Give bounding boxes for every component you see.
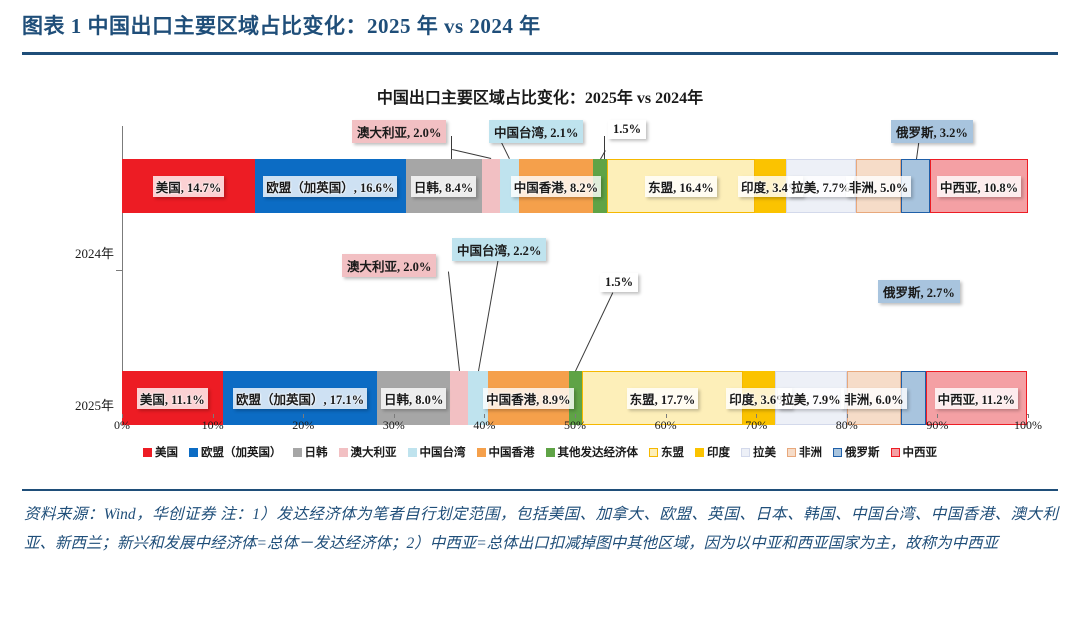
x-axis-tick-label: 60%	[655, 418, 677, 433]
y-axis-tick	[116, 270, 122, 271]
page-title: 图表 1 中国出口主要区域占比变化：2025 年 vs 2024 年	[22, 8, 1058, 44]
x-axis-tick-labels: 0%10%20%30%40%50%60%70%80%90%100%	[0, 418, 1080, 438]
legend-swatch	[189, 448, 198, 457]
x-axis-tick-label: 50%	[564, 418, 586, 433]
figure-header: 图表 1 中国出口主要区域占比变化：2025 年 vs 2024 年	[22, 8, 1058, 52]
bar-segment-label: 美国, 14.7%	[153, 176, 225, 197]
callout-leader-line	[604, 136, 605, 159]
legend-swatch	[833, 448, 842, 457]
footnote-divider	[22, 489, 1058, 491]
bar-segment-label: 欧盟（加英国）, 16.6%	[263, 176, 397, 197]
bar-segment: 拉美, 7.9%	[775, 371, 847, 425]
bar-segment: 美国, 11.1%	[122, 371, 223, 425]
bar-segment: 日韩, 8.0%	[377, 371, 449, 425]
legend-item[interactable]: 印度	[695, 444, 730, 460]
legend-swatch	[741, 448, 750, 457]
segment-callout: 俄罗斯, 2.7%	[878, 280, 960, 303]
legend-item[interactable]: 俄罗斯	[833, 444, 880, 460]
legend-swatch	[546, 448, 555, 457]
x-axis-tick-mark	[666, 414, 667, 418]
x-axis-tick-label: 100%	[1014, 418, 1042, 433]
x-axis-tick-mark	[484, 414, 485, 418]
x-axis-tick-mark	[213, 414, 214, 418]
legend-item[interactable]: 美国	[143, 444, 178, 460]
bar-segment: 中西亚, 11.2%	[926, 371, 1027, 425]
legend-item[interactable]: 日韩	[293, 444, 328, 460]
bar-segment-label: 日韩, 8.0%	[381, 388, 446, 409]
footnote-text: 资料来源：Wind，华创证券 注：1）发达经济体为笔者自行划定范围，包括美国、加…	[24, 500, 1058, 558]
bar-segment-label: 日韩, 8.4%	[411, 176, 476, 197]
callout-leader-line	[575, 292, 614, 372]
legend-item[interactable]: 中国台湾	[408, 444, 466, 460]
bar-segment-label: 东盟, 16.4%	[645, 176, 717, 197]
bar-segment-label: 东盟, 17.7%	[627, 388, 699, 409]
x-axis-tick-label: 30%	[383, 418, 405, 433]
segment-callout: 澳大利亚, 2.0%	[342, 254, 436, 277]
legend-label: 印度	[707, 444, 730, 460]
legend-label: 拉美	[753, 444, 776, 460]
legend-swatch	[787, 448, 796, 457]
bar-segment	[482, 159, 500, 213]
segment-callout: 1.5%	[600, 273, 638, 292]
category-label-2024: 2024年	[44, 243, 114, 262]
bar-segment-label: 拉美, 7.9%	[778, 388, 843, 409]
x-axis-tick-label: 70%	[745, 418, 767, 433]
bar-segment: 印度, 3.6%	[743, 371, 776, 425]
legend-item[interactable]: 其他发达经济体	[546, 444, 639, 460]
legend-item[interactable]: 中国香港	[477, 444, 535, 460]
legend-item[interactable]: 拉美	[741, 444, 776, 460]
x-axis-tick-mark	[847, 414, 848, 418]
legend-swatch	[891, 448, 900, 457]
bar-segment-label: 中国香港, 8.9%	[483, 388, 573, 409]
x-axis-tick-label: 20%	[292, 418, 314, 433]
legend-label: 非洲	[799, 444, 822, 460]
bar-segment: 非洲, 6.0%	[847, 371, 901, 425]
bar-segment: 中国香港, 8.9%	[488, 371, 569, 425]
x-axis-tick-label: 90%	[926, 418, 948, 433]
category-label-2025: 2025年	[44, 395, 114, 414]
callout-leader-line	[448, 272, 460, 371]
segment-callout: 中国台湾, 2.1%	[489, 120, 583, 143]
x-axis-tick-mark	[303, 414, 304, 418]
legend-label: 日韩	[305, 444, 328, 460]
legend-label: 中西亚	[903, 444, 938, 460]
bar-segment-label: 欧盟（加英国）, 17.1%	[233, 388, 367, 409]
bar-segment-label: 中西亚, 10.8%	[937, 176, 1021, 197]
x-axis-tick-mark	[575, 414, 576, 418]
legend-swatch	[293, 448, 302, 457]
legend-label: 澳大利亚	[351, 444, 397, 460]
bar-segment: 中西亚, 10.8%	[930, 159, 1028, 213]
legend-label: 中国台湾	[420, 444, 466, 460]
bar-segment: 中国香港, 8.2%	[519, 159, 593, 213]
legend-label: 其他发达经济体	[558, 444, 639, 460]
bar-segment: 日韩, 8.4%	[406, 159, 482, 213]
callout-leader-line	[452, 149, 491, 159]
x-axis-tick-label: 40%	[473, 418, 495, 433]
legend-item[interactable]: 欧盟（加英国）	[189, 444, 282, 460]
legend-swatch	[477, 448, 486, 457]
x-axis-tick-mark	[756, 414, 757, 418]
legend-label: 中国香港	[489, 444, 535, 460]
x-axis-tick-mark	[937, 414, 938, 418]
x-axis-tick-label: 0%	[114, 418, 130, 433]
bar-segment: 美国, 14.7%	[122, 159, 255, 213]
legend-label: 欧盟（加英国）	[201, 444, 282, 460]
legend-item[interactable]: 中西亚	[891, 444, 938, 460]
legend-swatch	[695, 448, 704, 457]
bar-segment: 印度, 3.4%	[755, 159, 786, 213]
bar-segment-label: 拉美, 7.7%	[788, 176, 853, 197]
x-axis-tick-label: 80%	[836, 418, 858, 433]
legend-swatch	[339, 448, 348, 457]
segment-callout: 中国台湾, 2.2%	[452, 238, 546, 261]
chart-legend: 美国欧盟（加英国）日韩澳大利亚中国台湾中国香港其他发达经济体东盟印度拉美非洲俄罗…	[0, 444, 1080, 460]
x-axis-tick-mark	[122, 414, 123, 418]
stacked-bar-2024: 美国, 14.7%欧盟（加英国）, 16.6%日韩, 8.4%中国香港, 8.2…	[122, 159, 1028, 213]
bar-segment-label: 美国, 11.1%	[137, 388, 208, 409]
bar-segment: 东盟, 17.7%	[582, 371, 742, 425]
segment-callout: 澳大利亚, 2.0%	[352, 120, 446, 143]
callout-leader-line	[478, 258, 499, 371]
bar-segment-label: 中西亚, 11.2%	[935, 388, 1018, 409]
segment-callout: 1.5%	[608, 120, 646, 139]
bar-segment: 欧盟（加英国）, 16.6%	[255, 159, 405, 213]
bar-segment	[450, 371, 468, 425]
chart-container: 中国出口主要区域占比变化：2025年 vs 2024年 2024年 2025年 …	[0, 58, 1080, 483]
bar-segment-label: 中国香港, 8.2%	[511, 176, 601, 197]
legend-item[interactable]: 非洲	[787, 444, 822, 460]
bar-segment-label: 非洲, 5.0%	[846, 176, 911, 197]
x-axis-tick-mark	[1028, 414, 1029, 418]
legend-item[interactable]: 东盟	[649, 444, 684, 460]
x-axis-tick-label: 10%	[202, 418, 224, 433]
legend-swatch	[649, 448, 658, 457]
bar-segment: 非洲, 5.0%	[856, 159, 901, 213]
legend-swatch	[408, 448, 417, 457]
legend-label: 美国	[155, 444, 178, 460]
bar-segment-label: 非洲, 6.0%	[841, 388, 906, 409]
legend-label: 俄罗斯	[845, 444, 880, 460]
legend-swatch	[143, 448, 152, 457]
legend-label: 东盟	[661, 444, 684, 460]
segment-callout: 俄罗斯, 3.2%	[891, 120, 973, 143]
chart-title: 中国出口主要区域占比变化：2025年 vs 2024年	[0, 84, 1080, 108]
callout-leader-line	[916, 142, 920, 159]
legend-item[interactable]: 澳大利亚	[339, 444, 397, 460]
header-divider	[22, 52, 1058, 55]
bar-segment: 欧盟（加英国）, 17.1%	[223, 371, 378, 425]
bar-segment: 东盟, 16.4%	[607, 159, 756, 213]
x-axis-tick-mark	[394, 414, 395, 418]
